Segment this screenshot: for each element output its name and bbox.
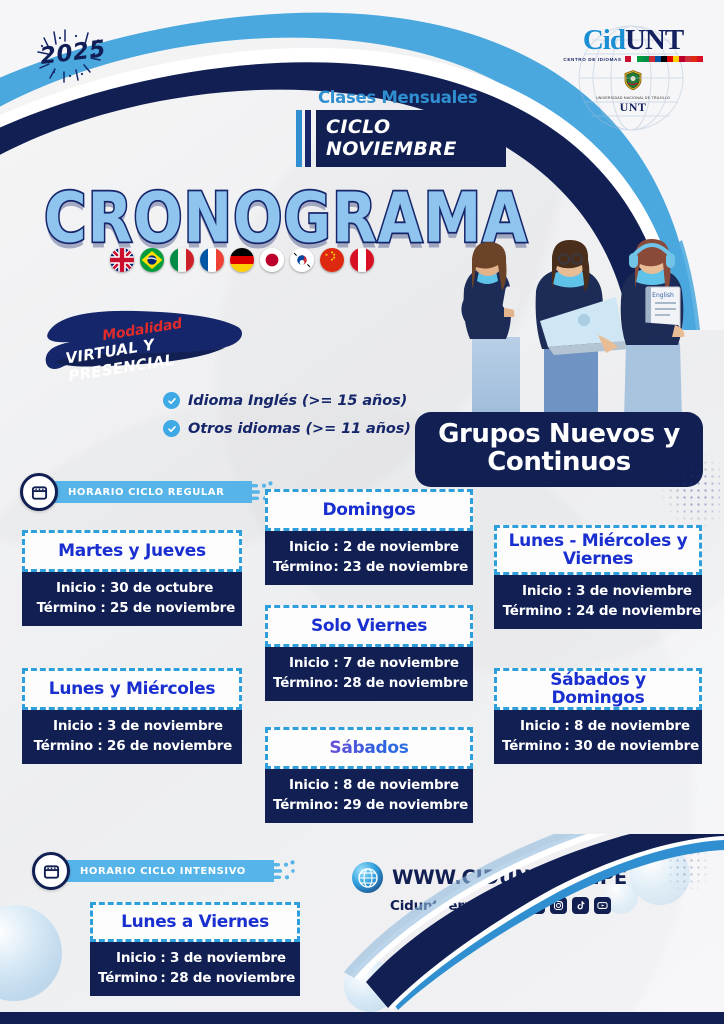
calendar-icon bbox=[20, 473, 58, 511]
student-center bbox=[536, 240, 630, 420]
label-termino: Término bbox=[502, 737, 560, 757]
schedule-start-row: Inicio : 8 de noviembre bbox=[271, 776, 467, 796]
flag-japan-icon bbox=[260, 248, 284, 272]
poster-canvas: 2025 CidUNT CENTRO DE IDIOMAS bbox=[0, 0, 724, 1024]
schedule-start-row: Inicio : 7 de noviembre bbox=[271, 654, 467, 674]
student-right: English bbox=[621, 239, 685, 420]
logo-unt-text: UNT bbox=[625, 24, 683, 56]
schedule-card-body: Inicio : 8 de noviembre Término : 29 de … bbox=[265, 769, 473, 823]
schedule-start-row: Inicio : 30 de octubre bbox=[28, 579, 236, 599]
label-termino: Término bbox=[273, 674, 329, 694]
cycle-bars-icon bbox=[296, 110, 311, 167]
year-badge: 2025 bbox=[24, 24, 120, 88]
colon: : bbox=[560, 737, 574, 757]
label-inicio: Inicio bbox=[273, 538, 329, 558]
label-termino: Término bbox=[34, 599, 96, 619]
colon: : bbox=[560, 717, 574, 737]
schedule-start-row: Inicio : 3 de noviembre bbox=[500, 582, 696, 602]
schedule-card-title: Sábados y Domingos bbox=[503, 671, 693, 708]
flag-united-kingdom-icon bbox=[110, 248, 134, 272]
calendar-icon bbox=[32, 852, 70, 890]
schedule-end-row: Término : 25 de noviembre bbox=[28, 599, 236, 619]
schedule-end-row: Término : 24 de noviembre bbox=[500, 602, 696, 622]
schedule-end-date: 25 de noviembre bbox=[110, 599, 230, 619]
colon: : bbox=[96, 579, 110, 599]
colon: : bbox=[329, 538, 343, 558]
schedule-end-date: 29 de noviembre bbox=[343, 796, 465, 816]
check-circle-icon bbox=[163, 392, 180, 409]
schedule-end-date: 26 de noviembre bbox=[107, 737, 233, 757]
schedule-card-title: Sábados bbox=[329, 739, 408, 757]
schedule-card-header: Sábados y Domingos bbox=[494, 668, 702, 710]
schedule-end-row: Término : 29 de noviembre bbox=[271, 796, 467, 816]
schedule-card-header: Martes y Jueves bbox=[22, 530, 242, 572]
flag-germany-icon bbox=[230, 248, 254, 272]
colon: : bbox=[329, 776, 343, 796]
flag-italy-icon bbox=[170, 248, 194, 272]
label-inicio: Inicio bbox=[502, 582, 562, 602]
logo-wordmark: CidUNT bbox=[558, 26, 708, 55]
cycle-kicker: Clases Mensuales bbox=[318, 88, 506, 107]
requirement-item: Otros idiomas (>= 11 años) bbox=[163, 420, 411, 437]
requirements-list: Idioma Inglés (>= 15 años) Otros idiomas… bbox=[163, 392, 411, 448]
label-inicio: Inicio bbox=[34, 579, 96, 599]
colon: : bbox=[329, 796, 343, 816]
modality-badge: Modalidad VIRTUAL Y PRESENCIAL bbox=[40, 305, 250, 375]
logo-cid-text: Cid bbox=[583, 24, 625, 56]
bottom-wave-decoration bbox=[0, 834, 724, 1024]
schedule-card: Sábados y Domingos Inicio : 8 de noviemb… bbox=[494, 668, 702, 764]
groups-banner-line2: Continuos bbox=[425, 449, 693, 477]
schedule-card-body: Inicio : 2 de noviembre Término : 23 de … bbox=[265, 531, 473, 585]
label-termino: Término bbox=[31, 737, 93, 757]
logo-subtitle-row: CENTRO DE IDIOMAS bbox=[558, 56, 708, 62]
check-circle-icon bbox=[163, 420, 180, 437]
schedule-end-date: 28 de noviembre bbox=[343, 674, 465, 694]
schedule-card-title: Martes y Jueves bbox=[58, 542, 206, 560]
schedule-end-row: Término : 26 de noviembre bbox=[28, 737, 236, 757]
schedule-start-date: 3 de noviembre bbox=[107, 717, 233, 737]
schedule-start-row: Inicio : 2 de noviembre bbox=[271, 538, 467, 558]
schedule-card-title: Solo Viernes bbox=[311, 617, 427, 635]
section-header-regular-bar: HORARIO CICLO REGULAR bbox=[50, 481, 252, 503]
dot-grid-decoration bbox=[660, 452, 720, 530]
schedule-start-row: Inicio : 3 de noviembre bbox=[28, 717, 236, 737]
schedule-start-date: 2 de noviembre bbox=[343, 538, 465, 558]
schedule-card-title: Lunes y Miércoles bbox=[49, 680, 215, 698]
schedule-start-date: 30 de octubre bbox=[110, 579, 230, 599]
flag-brazil-icon bbox=[140, 248, 164, 272]
schedule-card: Lunes y Miércoles Inicio : 3 de noviembr… bbox=[22, 668, 242, 764]
schedule-card-header: Solo Viernes bbox=[265, 605, 473, 647]
groups-banner-line1: Grupos Nuevos y bbox=[425, 421, 693, 449]
label-inicio: Inicio bbox=[502, 717, 560, 737]
cycle-header: Clases Mensuales CICLO NOVIEMBRE bbox=[296, 88, 506, 167]
schedule-card: Martes y Jueves Inicio : 30 de octubre T… bbox=[22, 530, 242, 626]
flag-china-icon bbox=[320, 248, 344, 272]
label-inicio: Inicio bbox=[31, 717, 93, 737]
colon: : bbox=[329, 674, 343, 694]
colon: : bbox=[562, 582, 576, 602]
logo-centro-text: CENTRO DE IDIOMAS bbox=[563, 57, 621, 62]
label-termino: Término bbox=[502, 602, 562, 622]
label-termino: Término bbox=[273, 558, 329, 578]
schedule-card-body: Inicio : 3 de noviembre Término : 26 de … bbox=[22, 710, 242, 764]
schedule-card: Domingos Inicio : 2 de noviembre Término… bbox=[265, 489, 473, 585]
svg-text:English: English bbox=[652, 292, 674, 299]
language-flags-row bbox=[110, 248, 374, 272]
schedule-end-row: Término : 30 de noviembre bbox=[500, 737, 696, 757]
schedule-start-date: 7 de noviembre bbox=[343, 654, 465, 674]
section-header-regular-label: HORARIO CICLO REGULAR bbox=[68, 487, 224, 498]
student-left bbox=[461, 242, 520, 420]
requirement-item: Idioma Inglés (>= 15 años) bbox=[163, 392, 411, 409]
schedule-card-body: Inicio : 7 de noviembre Término : 28 de … bbox=[265, 647, 473, 701]
flag-south-korea-icon bbox=[290, 248, 314, 272]
schedule-card-header: Lunes y Miércoles bbox=[22, 668, 242, 710]
logo-flag-strip bbox=[625, 56, 703, 62]
colon: : bbox=[93, 717, 107, 737]
schedule-start-date: 3 de noviembre bbox=[576, 582, 694, 602]
colon: : bbox=[93, 737, 107, 757]
schedule-card-title: Domingos bbox=[322, 501, 415, 519]
colon: : bbox=[562, 602, 576, 622]
schedule-card-header: Domingos bbox=[265, 489, 473, 531]
schedule-start-date: 8 de noviembre bbox=[574, 717, 694, 737]
students-photo: English bbox=[420, 225, 715, 420]
schedule-card-body: Inicio : 3 de noviembre Término : 24 de … bbox=[494, 575, 702, 629]
flag-peru-icon bbox=[350, 248, 374, 272]
colon: : bbox=[96, 599, 110, 619]
label-inicio: Inicio bbox=[273, 654, 329, 674]
label-inicio: Inicio bbox=[273, 776, 329, 796]
schedule-card-header: Lunes - Miércoles y Viernes bbox=[494, 525, 702, 575]
colon: : bbox=[329, 558, 343, 578]
requirement-label: Idioma Inglés (>= 15 años) bbox=[188, 393, 407, 409]
schedule-start-date: 8 de noviembre bbox=[343, 776, 465, 796]
schedule-end-date: 23 de noviembre bbox=[343, 558, 465, 578]
schedule-card-body: Inicio : 30 de octubre Término : 25 de n… bbox=[22, 572, 242, 626]
cycle-plate-row: CICLO NOVIEMBRE bbox=[296, 110, 506, 167]
schedule-card: Solo Viernes Inicio : 7 de noviembre Tér… bbox=[265, 605, 473, 701]
label-termino: Término bbox=[273, 796, 329, 816]
schedule-end-row: Término : 28 de noviembre bbox=[271, 674, 467, 694]
flag-france-icon bbox=[200, 248, 224, 272]
schedule-card: Sábados Inicio : 8 de noviembre Término … bbox=[265, 727, 473, 823]
schedule-end-date: 24 de noviembre bbox=[576, 602, 694, 622]
colon: : bbox=[329, 654, 343, 674]
schedule-card-body: Inicio : 8 de noviembre Término : 30 de … bbox=[494, 710, 702, 764]
schedule-start-row: Inicio : 8 de noviembre bbox=[500, 717, 696, 737]
schedule-card-title: Lunes - Miércoles y Viernes bbox=[503, 532, 693, 569]
schedule-card: Lunes - Miércoles y Viernes Inicio : 3 d… bbox=[494, 525, 702, 629]
cycle-name: CICLO NOVIEMBRE bbox=[316, 110, 506, 167]
requirement-label: Otros idiomas (>= 11 años) bbox=[188, 421, 411, 437]
section-header-regular: HORARIO CICLO REGULAR bbox=[20, 473, 276, 511]
schedule-card-header: Sábados bbox=[265, 727, 473, 769]
cidunt-logo: CidUNT CENTRO DE IDIOMAS UNIVERSIDAD NAC… bbox=[558, 26, 708, 136]
schedule-end-date: 30 de noviembre bbox=[574, 737, 694, 757]
schedule-end-row: Término : 23 de noviembre bbox=[271, 558, 467, 578]
